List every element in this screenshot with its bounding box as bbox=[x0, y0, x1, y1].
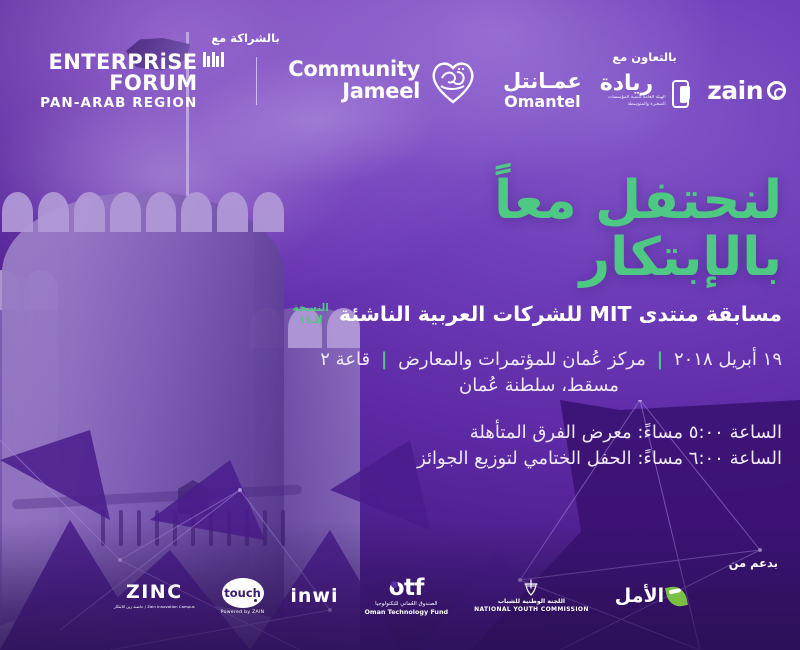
riyada-subtitle: الهيئة العامة لتنمية المؤسسات الصغيرة وا… bbox=[600, 95, 666, 107]
inwi-wordmark: inwi bbox=[290, 585, 338, 607]
event-banner: بالتعاون مع zain ريادة الهيئة العامة لتن… bbox=[0, 0, 800, 650]
inwi-logo[interactable]: inwi bbox=[290, 585, 338, 607]
header-divider bbox=[256, 57, 257, 105]
touch-wordmark: touch bbox=[222, 578, 264, 608]
partnership-group: بالشراكة مع Community bbox=[14, 31, 477, 111]
headline-line-2: بالإبتكار bbox=[222, 229, 782, 286]
riyada-mark-icon bbox=[672, 80, 690, 108]
community-jameel-logo[interactable]: Community Jameel bbox=[288, 58, 477, 104]
partnership-kicker: بالشراكة مع bbox=[211, 31, 279, 45]
oman-khanjar-emblem-icon bbox=[521, 579, 541, 597]
event-city: مسقط، سلطنة عُمان bbox=[222, 373, 782, 399]
riyada-logo[interactable]: ريادة الهيئة العامة لتنمية المؤسسات الصغ… bbox=[600, 73, 689, 107]
edition-line-1: النسخة bbox=[292, 303, 328, 315]
al-amal-arabic: الأمل bbox=[615, 585, 664, 607]
nyc-arabic: اللجنة الوطنية للشباب bbox=[498, 598, 565, 605]
otf-arabic: الصندوق العُماني للتكنولوجيا bbox=[375, 602, 437, 607]
enterprise-forum-title: ENTERPRiSE FORUM bbox=[14, 52, 198, 94]
zain-wordmark: zain bbox=[707, 76, 763, 105]
event-venue: مركز عُمان للمؤتمرات والمعارض bbox=[398, 349, 646, 370]
edition-badge: النسخة الـ١١ bbox=[292, 303, 328, 327]
otf-english: Oman Technology Fund bbox=[365, 609, 449, 615]
riyada-arabic: ريادة bbox=[600, 73, 653, 95]
supported-by-label: بدعم من bbox=[729, 556, 778, 570]
zinc-logo[interactable]: ZINC Zain Innovation Campus / حاضنة زين … bbox=[114, 583, 195, 609]
community-jameel-line2: Jameel bbox=[288, 81, 420, 102]
zinc-caption: Zain Innovation Campus / حاضنة زين للابت… bbox=[114, 604, 195, 609]
touch-caption: Powered by ZAIN bbox=[221, 610, 265, 615]
oman-technology-fund-logo[interactable]: otf الصندوق العُماني للتكنولوجيا Oman Te… bbox=[365, 577, 449, 615]
nyc-english: NATIONAL YOUTH COMMISSION bbox=[474, 606, 589, 613]
schedule-item-2: الساعة ٦:٠٠ مساءً: الحفل الختامي لتوزيع … bbox=[222, 446, 782, 472]
touch-logo[interactable]: touch Powered by ZAIN bbox=[221, 578, 265, 615]
zain-logo[interactable]: zain bbox=[707, 76, 786, 105]
schedule-item-1: الساعة ٥:٠٠ مساءً: معرض الفرق المتأهلة bbox=[222, 420, 782, 446]
event-details: ١٩ أبريل ٢٠١٨ | مركز عُمان للمؤتمرات وال… bbox=[222, 347, 782, 398]
separator-2: | bbox=[376, 349, 393, 370]
community-jameel-line1: Community bbox=[288, 59, 420, 80]
pan-arab-region-label: PAN-ARAB REGION bbox=[40, 97, 197, 111]
event-schedule: الساعة ٥:٠٠ مساءً: معرض الفرق المتأهلة ا… bbox=[222, 420, 782, 471]
mit-logo-icon bbox=[203, 52, 224, 67]
omantel-english: Omantel bbox=[504, 94, 580, 110]
event-copy: لنحتفل معاً بالإبتكار مسابقة منتدى MIT ل… bbox=[222, 172, 782, 471]
headline-line-1: لنحتفل معاً bbox=[494, 170, 782, 231]
zain-swirl-icon bbox=[767, 81, 786, 100]
omantel-arabic: عمـانتل bbox=[503, 71, 582, 92]
separator-1: | bbox=[652, 349, 669, 370]
sponsor-header: بالتعاون مع zain ريادة الهيئة العامة لتن… bbox=[0, 0, 800, 118]
zinc-wordmark: ZINC bbox=[126, 583, 183, 602]
mit-enterprise-forum-logo[interactable]: ENTERPRiSE FORUM PAN-ARAB REGION bbox=[14, 52, 224, 111]
omantel-logo[interactable]: عمـانتل Omantel bbox=[503, 71, 582, 110]
otf-mark: otf bbox=[389, 577, 424, 600]
cooperation-group: بالتعاون مع zain ريادة الهيئة العامة لتن… bbox=[503, 50, 786, 110]
page-title: لنحتفل معاً بالإبتكار bbox=[222, 172, 782, 286]
competition-subtitle: مسابقة منتدى MIT للشركات العربية الناشئة bbox=[339, 302, 782, 327]
al-amal-logo[interactable]: الأمل bbox=[615, 585, 686, 607]
date-venue-line: ١٩ أبريل ٢٠١٨ | مركز عُمان للمؤتمرات وال… bbox=[222, 347, 782, 373]
event-hall: قاعة ٢ bbox=[320, 349, 370, 370]
sponsor-footer: الأمل اللجنة الوطنية للشباب NATIONAL YOU… bbox=[0, 572, 800, 620]
leaf-icon bbox=[665, 584, 688, 608]
event-date: ١٩ أبريل ٢٠١٨ bbox=[674, 349, 782, 370]
cooperation-kicker: بالتعاون مع bbox=[612, 50, 676, 64]
jameel-heart-calligraphy-icon bbox=[429, 58, 477, 104]
subtitle-row: مسابقة منتدى MIT للشركات العربية الناشئة… bbox=[222, 302, 782, 327]
national-youth-commission-logo[interactable]: اللجنة الوطنية للشباب NATIONAL YOUTH COM… bbox=[474, 579, 589, 613]
edition-line-2: الـ١١ bbox=[292, 315, 328, 327]
